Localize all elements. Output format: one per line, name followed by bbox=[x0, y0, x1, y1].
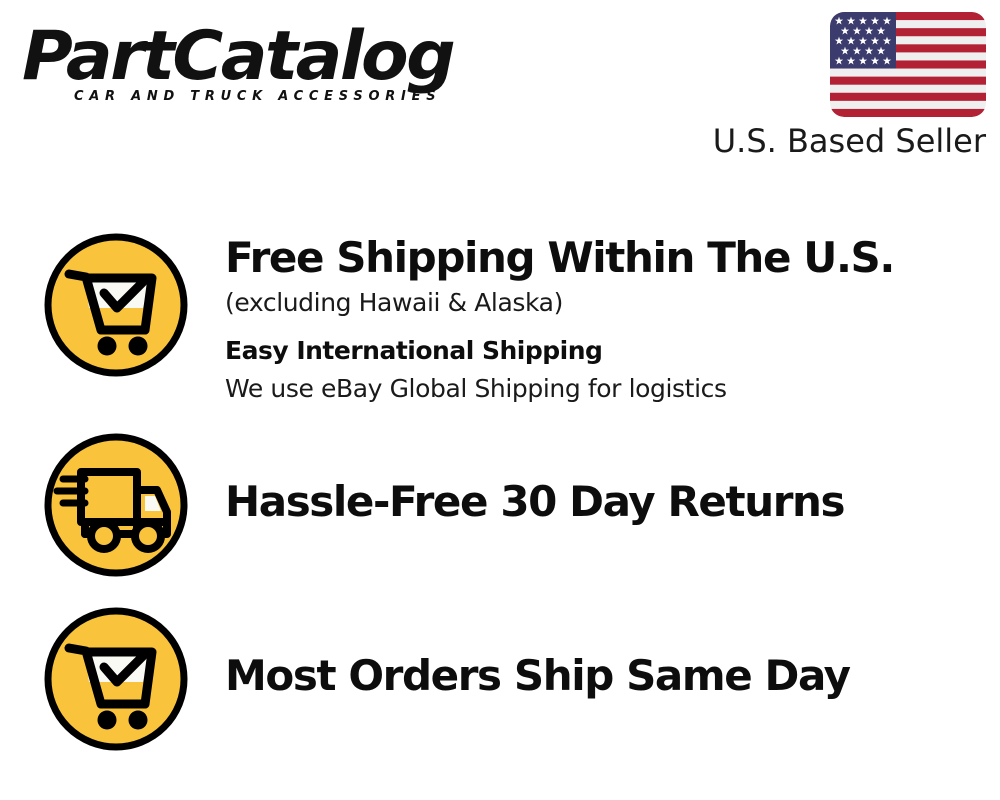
seller-badge: U.S. Based Seller bbox=[716, 12, 986, 159]
feature-title: Free Shipping Within The U.S. bbox=[225, 234, 1000, 282]
feature-subtitle-exclusions: (excluding Hawaii & Alaska) bbox=[225, 286, 1000, 320]
feature-text-same-day: Most Orders Ship Same Day bbox=[191, 604, 1000, 700]
delivery-truck-icon bbox=[41, 430, 191, 580]
feature-title: Hassle-Free 30 Day Returns bbox=[225, 478, 1000, 526]
feature-text-free-shipping: Free Shipping Within The U.S. (excluding… bbox=[191, 228, 1000, 406]
feature-subtitle-international: Easy International Shipping bbox=[225, 334, 1000, 368]
feature-text-returns: Hassle-Free 30 Day Returns bbox=[191, 430, 1000, 526]
feature-title: Most Orders Ship Same Day bbox=[225, 652, 1000, 700]
seller-label: U.S. Based Seller bbox=[713, 123, 986, 159]
shopping-cart-check-icon bbox=[41, 604, 191, 754]
feature-list: Free Shipping Within The U.S. (excluding… bbox=[0, 228, 1000, 778]
feature-row-free-shipping: Free Shipping Within The U.S. (excluding… bbox=[0, 228, 1000, 406]
shopping-cart-check-icon bbox=[41, 230, 191, 380]
brand-wordmark: PartCatalog bbox=[22, 22, 501, 92]
us-flag-icon bbox=[830, 12, 986, 117]
promo-banner: PartCatalog CAR AND TRUCK ACCESSORIES bbox=[0, 0, 1000, 800]
feature-subtitle-logistics: We use eBay Global Shipping for logistic… bbox=[225, 372, 1000, 406]
brand-tagline: CAR AND TRUCK ACCESSORIES bbox=[74, 88, 475, 104]
brand-logo[interactable]: PartCatalog CAR AND TRUCK ACCESSORIES bbox=[22, 22, 492, 114]
feature-row-same-day: Most Orders Ship Same Day bbox=[0, 604, 1000, 754]
feature-row-returns: Hassle-Free 30 Day Returns bbox=[0, 430, 1000, 580]
